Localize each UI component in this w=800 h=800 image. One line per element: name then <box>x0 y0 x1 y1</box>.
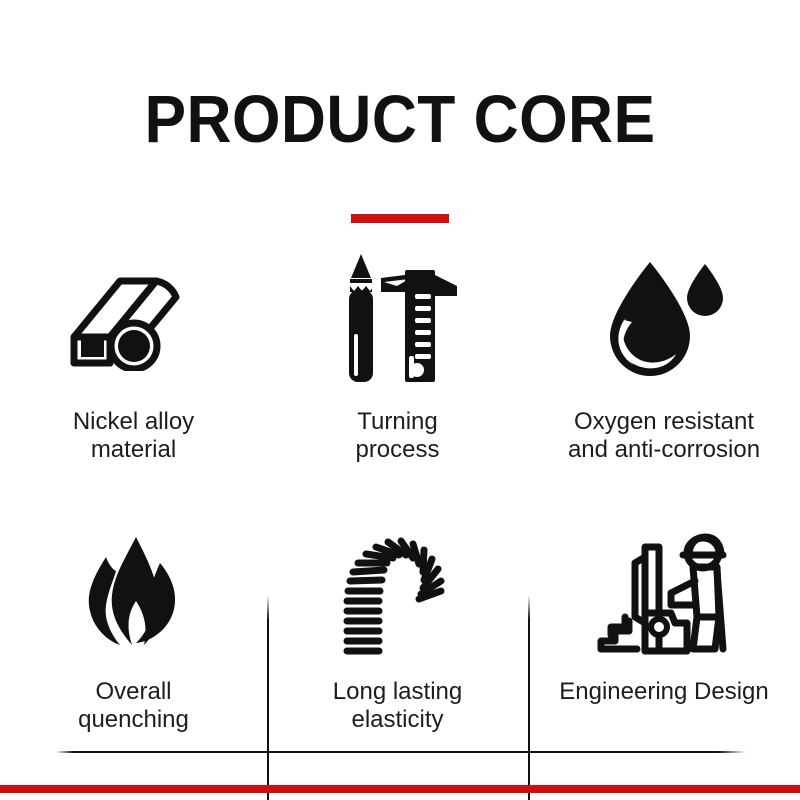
coil-spring-icon <box>335 521 461 666</box>
page-title: PRODUCT CORE <box>28 86 772 153</box>
feature-cell-engineering-design[interactable]: Engineering Design <box>528 511 800 770</box>
grid-divider-vertical-left <box>267 595 269 800</box>
worker-machine-icon <box>597 521 731 666</box>
flame-icon <box>86 521 182 666</box>
water-droplet-icon <box>602 244 726 394</box>
grid-divider-vertical-right <box>528 595 530 800</box>
feature-cell-turning-process[interactable]: Turning process <box>267 240 528 511</box>
feature-cell-nickel-alloy-material[interactable]: Nickel alloy material <box>0 240 267 511</box>
feature-label: Nickel alloy material <box>67 408 200 465</box>
pencil-caliper-icon <box>337 244 459 394</box>
feature-label: Engineering Design <box>553 678 774 706</box>
feature-label: Turning process <box>349 408 445 465</box>
grid-divider-horizontal <box>56 751 746 753</box>
feature-cell-oxygen-resistant[interactable]: Oxygen resistant and anti-corrosion <box>528 240 800 511</box>
metal-tubes-icon <box>64 244 204 394</box>
title-underline-accent <box>351 214 449 223</box>
feature-grid: Nickel alloy material <box>0 240 800 770</box>
footer-accent-bar <box>0 785 800 793</box>
product-core-infographic: PRODUCT CORE <box>0 0 800 800</box>
feature-cell-long-lasting-elasticity[interactable]: Long lasting elasticity <box>267 511 528 770</box>
feature-cell-overall-quenching[interactable]: Overall quenching <box>0 511 267 770</box>
feature-label: Oxygen resistant and anti-corrosion <box>562 408 766 465</box>
header: PRODUCT CORE <box>0 0 800 240</box>
feature-label: Long lasting elasticity <box>327 678 468 735</box>
feature-label: Overall quenching <box>72 678 195 735</box>
